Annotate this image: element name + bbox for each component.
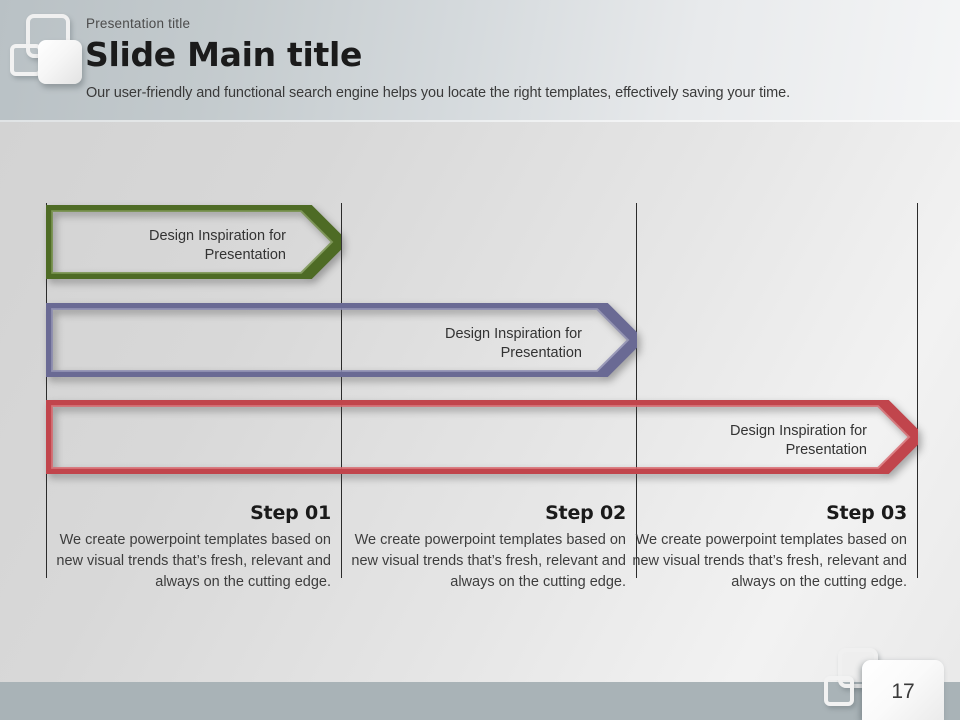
logo-square-filled	[38, 40, 82, 84]
step-column-3: Step 03 We create powerpoint templates b…	[632, 502, 907, 593]
arrow-label-red-line1: Design Inspiration for	[730, 423, 867, 439]
slide-subtitle: Our user-friendly and functional search …	[86, 85, 790, 101]
arrow-label-purple: Design Inspiration for Presentation	[346, 325, 582, 363]
slide-canvas: Presentation title Slide Main title Our …	[0, 0, 960, 720]
page-title: Slide Main title	[85, 35, 362, 74]
arrow-label-purple-line2: Presentation	[501, 345, 582, 361]
arrow-label-green: Design Inspiration for Presentation	[56, 227, 286, 265]
arrow-label-red: Design Inspiration for Presentation	[631, 422, 867, 460]
column-divider-4	[917, 203, 918, 578]
step-body-2: We create powerpoint templates based on …	[351, 530, 626, 593]
arrow-label-red-line2: Presentation	[786, 442, 867, 458]
step-column-1: Step 01 We create powerpoint templates b…	[56, 502, 331, 593]
step-title-3: Step 03	[632, 502, 907, 524]
slide-header: Presentation title Slide Main title Our …	[0, 0, 960, 122]
process-arrow-purple[interactable]: Design Inspiration for Presentation	[46, 303, 637, 377]
arrow-label-purple-line1: Design Inspiration for	[445, 326, 582, 342]
step-title-2: Step 02	[351, 502, 626, 524]
step-title-1: Step 01	[56, 502, 331, 524]
slide-footer-bar	[0, 682, 960, 720]
arrow-label-green-line1: Design Inspiration for	[149, 228, 286, 244]
presentation-title-eyebrow: Presentation title	[86, 16, 190, 31]
column-divider-2	[341, 203, 342, 578]
page-number-badge: 17	[862, 660, 944, 720]
arrow-label-green-line2: Presentation	[205, 247, 286, 263]
stacked-squares-logo-icon	[8, 12, 86, 88]
page-number: 17	[862, 680, 944, 704]
process-arrow-green[interactable]: Design Inspiration for Presentation	[46, 205, 341, 279]
footer-logo-square-outline-small	[824, 676, 854, 706]
process-arrow-diagram: Design Inspiration for Presentation Desi…	[0, 122, 960, 682]
process-arrow-red[interactable]: Design Inspiration for Presentation	[46, 400, 918, 474]
step-column-2: Step 02 We create powerpoint templates b…	[351, 502, 626, 593]
step-body-1: We create powerpoint templates based on …	[56, 530, 331, 593]
step-body-3: We create powerpoint templates based on …	[632, 530, 907, 593]
